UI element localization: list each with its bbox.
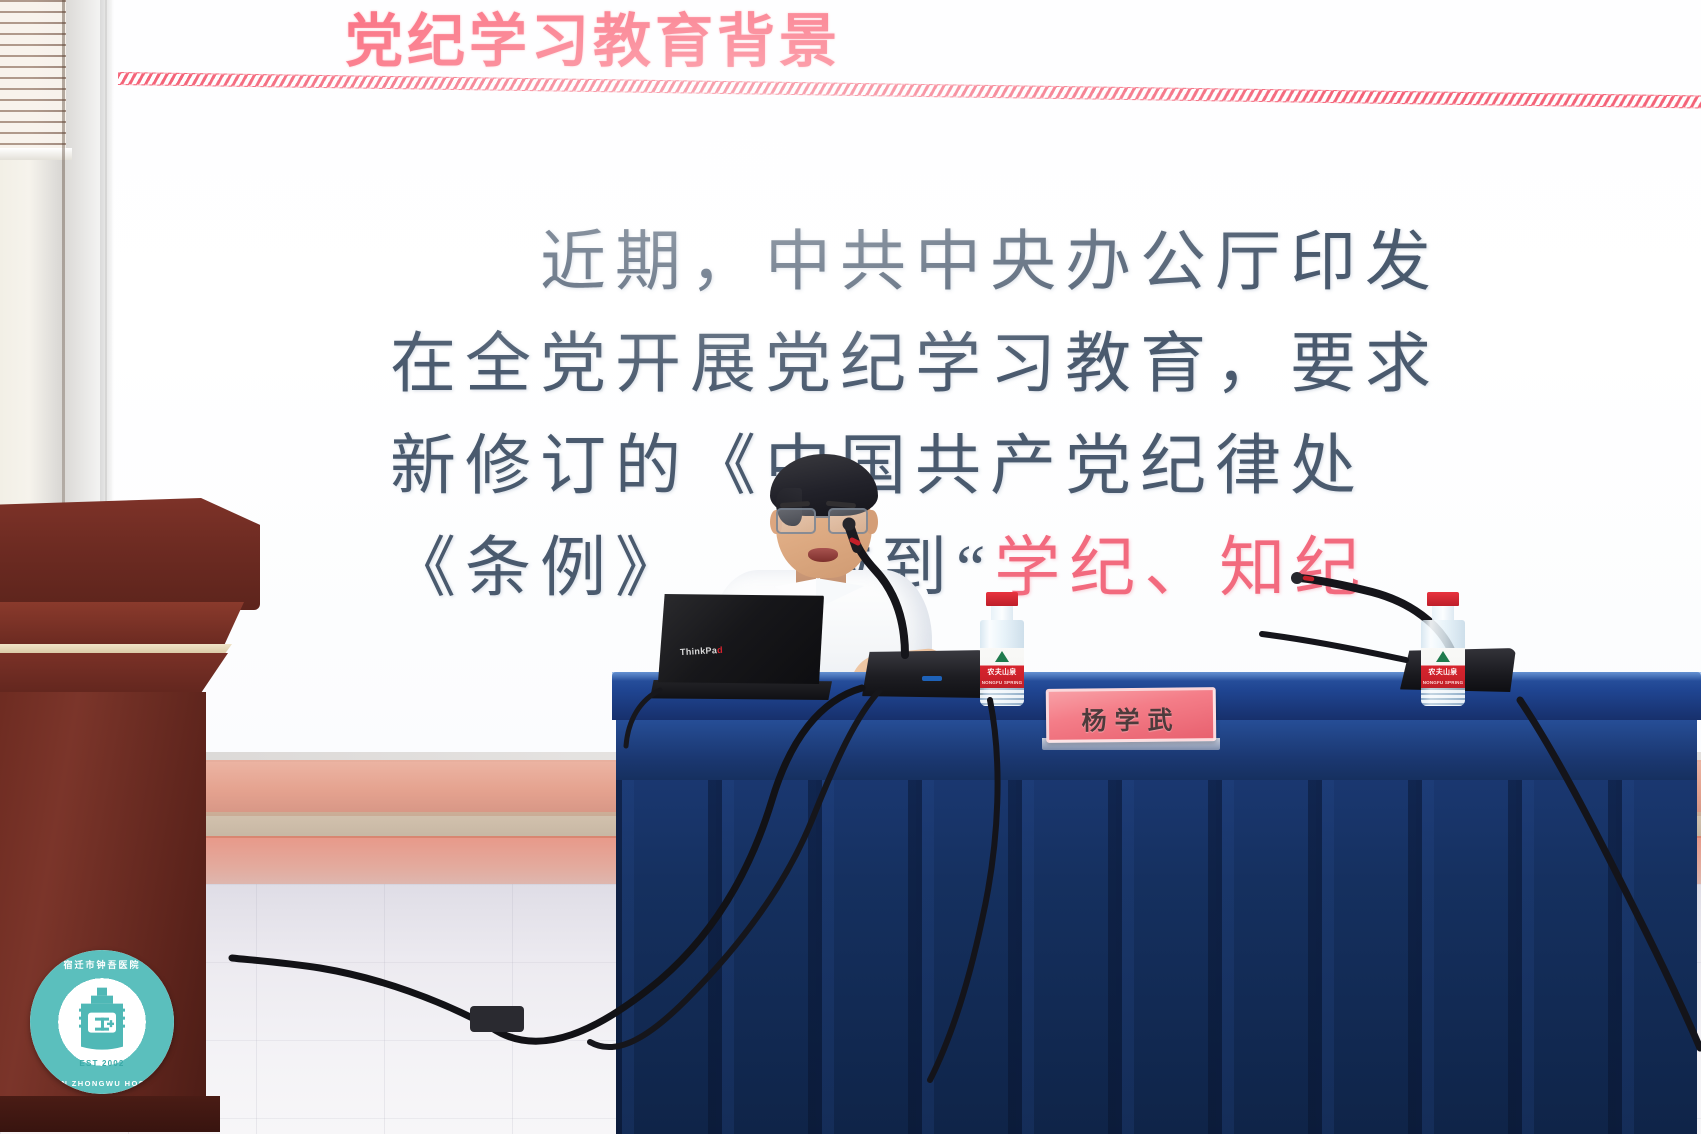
mouth: [808, 548, 838, 562]
podium-top: [0, 498, 260, 610]
podium-inlay-stripe: [0, 644, 232, 654]
bottle-brand-cn: 农夫山泉: [1421, 667, 1465, 677]
lens-left: [776, 508, 816, 534]
window-blinds-icon: [0, 0, 66, 152]
podium-lower-lip: [0, 653, 228, 695]
nongfu-mountain-logo-icon: [1436, 651, 1450, 662]
podium-base: [0, 1096, 220, 1132]
laptop-brand-label: ThinkPad: [680, 645, 723, 657]
slide-line4-highlight: 学纪、知纪: [994, 532, 1369, 605]
slide-body-text: 近期，中共中央办公厅印发 在全党开展党纪学习教育，要求 新修订的《中国共产党纪律…: [390, 212, 1701, 620]
slide-body-line-1: 近期，中共中央办公厅印发: [390, 212, 1701, 314]
nongfu-mountain-logo-icon: [995, 651, 1009, 662]
bottle-brand-cn: 农夫山泉: [980, 667, 1024, 677]
lens-right: [828, 508, 868, 534]
nameplate-name: 杨学武: [1049, 700, 1213, 738]
slide-body-line-2: 在全党开展党纪学习教育，要求: [390, 314, 1701, 416]
pillar-edge: [100, 0, 114, 520]
bottle-brand-en: NONGFU SPRING: [1421, 680, 1465, 685]
podium-body: 宿迁市钟吾医院 E: [0, 692, 206, 1104]
bottle-neck: [991, 606, 1013, 620]
microphone-base-left[interactable]: [862, 650, 988, 698]
microphone-led-indicator: [922, 676, 942, 681]
slide-body-line-3: 新修订的《中国共产党纪律处: [390, 416, 1701, 518]
bottle-label: 农夫山泉 NONGFU SPRING: [1421, 648, 1465, 688]
bottle-ribs: [980, 688, 1024, 706]
podium-lip: [0, 602, 244, 646]
bottle-neck: [1432, 606, 1454, 620]
bottle-brand-en: NONGFU SPRING: [980, 680, 1024, 685]
laptop-icon[interactable]: ThinkPad: [650, 594, 832, 702]
nameplate: 杨学武: [1042, 688, 1220, 750]
slide-line4-prefix: 《条例》: [390, 532, 690, 605]
bottle-ribs: [1421, 688, 1465, 706]
conference-photo-scene: 党纪学习教育背景 近期，中共中央办公厅印发 在全党开展党纪学习教育，要求 新修订…: [0, 0, 1701, 1134]
laptop-brand-text: ThinkPad: [680, 645, 723, 657]
bottle-cap: [1427, 592, 1459, 606]
eyeglasses-icon: [774, 508, 874, 536]
hospital-cross-emblem-icon: [71, 987, 133, 1055]
logo-name-en: SUQIAN ZHONGWU HOSPITAL: [30, 1079, 174, 1088]
logo-name-cn: 宿迁市钟吾医院: [30, 958, 174, 971]
slide-body-line-4: 《条例》做到“学纪、知纪: [390, 518, 1701, 620]
bottle-label: 农夫山泉 NONGFU SPRING: [980, 648, 1024, 688]
bottle-body: 农夫山泉 NONGFU SPRING: [980, 620, 1024, 706]
water-bottle-icon: 农夫山泉 NONGFU SPRING: [1421, 592, 1465, 706]
bottle-cap: [986, 592, 1018, 606]
laptop-lid: ThinkPad: [658, 594, 824, 684]
bottle-body: 农夫山泉 NONGFU SPRING: [1421, 620, 1465, 706]
logo-established: EST 2002: [30, 1059, 174, 1068]
slide-title: 党纪学习教育背景: [345, 0, 841, 78]
hospital-logo: 宿迁市钟吾医院 E: [30, 950, 174, 1094]
nameplate-card: 杨学武: [1046, 687, 1217, 743]
speaker-podium: 宿迁市钟吾医院 E: [0, 498, 278, 1134]
water-bottle-icon: 农夫山泉 NONGFU SPRING: [980, 592, 1024, 706]
